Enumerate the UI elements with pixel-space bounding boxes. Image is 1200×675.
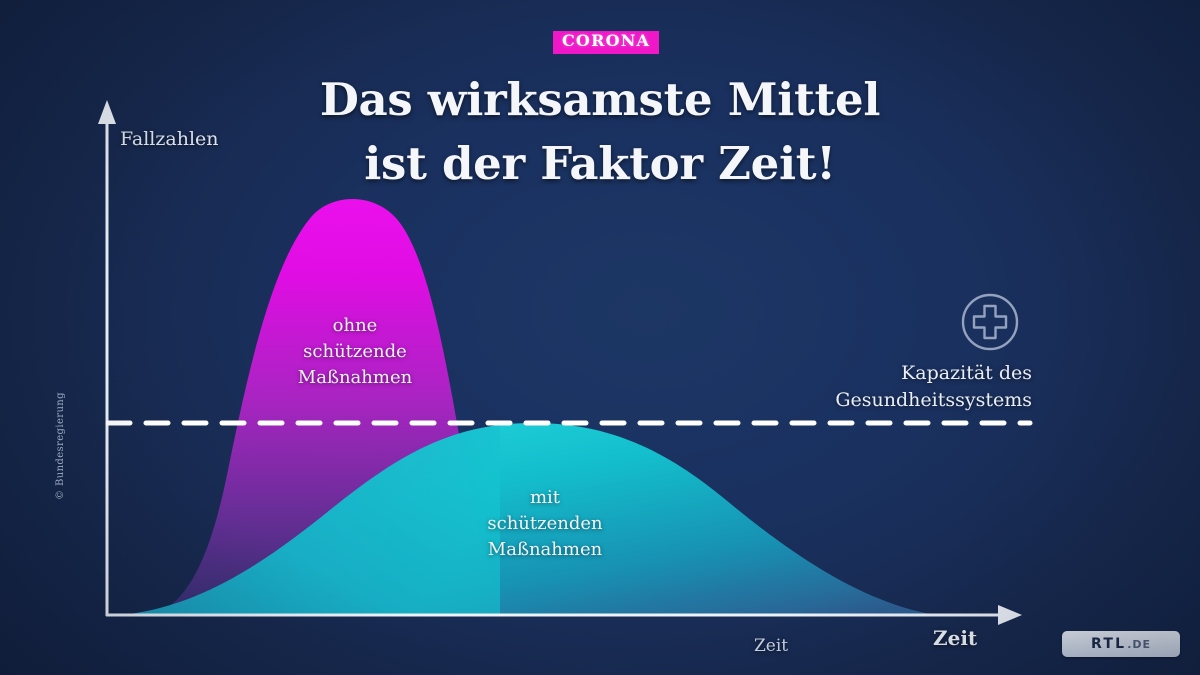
- curve-label-ohne-line2: schützende: [265, 339, 445, 365]
- source-credit: © Bundesregierung: [55, 370, 66, 500]
- medical-cross-icon: [963, 295, 1017, 349]
- capacity-label: Kapazität des Gesundheitssystems: [612, 360, 1032, 414]
- rtl-logo: RTL.DE: [1062, 631, 1180, 657]
- curve-label-mit-line1: mit: [450, 485, 640, 511]
- page-title-line1: Das wirksamste Mittel: [0, 68, 1200, 132]
- curve-label-ohne-line3: Maßnahmen: [265, 365, 445, 391]
- curve-label-mit-line3: Maßnahmen: [450, 537, 640, 563]
- category-badge: CORONA: [553, 31, 659, 54]
- rtl-logo-main: RTL: [1091, 636, 1126, 652]
- y-axis-label: Fallzahlen: [120, 128, 219, 150]
- capacity-label-line2: Gesundheitssystems: [612, 387, 1032, 414]
- curve-label-ohne-massnahmen: ohne schützende Maßnahmen: [265, 313, 445, 391]
- x-axis-label: Zeit: [933, 626, 977, 650]
- curve-label-ohne-line1: ohne: [265, 313, 445, 339]
- capacity-label-line1: Kapazität des: [612, 360, 1032, 387]
- curve-label-mit-line2: schützenden: [450, 511, 640, 537]
- infographic-canvas: CORONA Das wirksamste Mittel ist der Fak…: [0, 0, 1200, 675]
- rtl-logo-suffix: .DE: [1127, 638, 1151, 651]
- curve-label-mit-massnahmen: mit schützenden Maßnahmen: [450, 485, 640, 563]
- x-axis-label-mid: Zeit: [754, 636, 788, 656]
